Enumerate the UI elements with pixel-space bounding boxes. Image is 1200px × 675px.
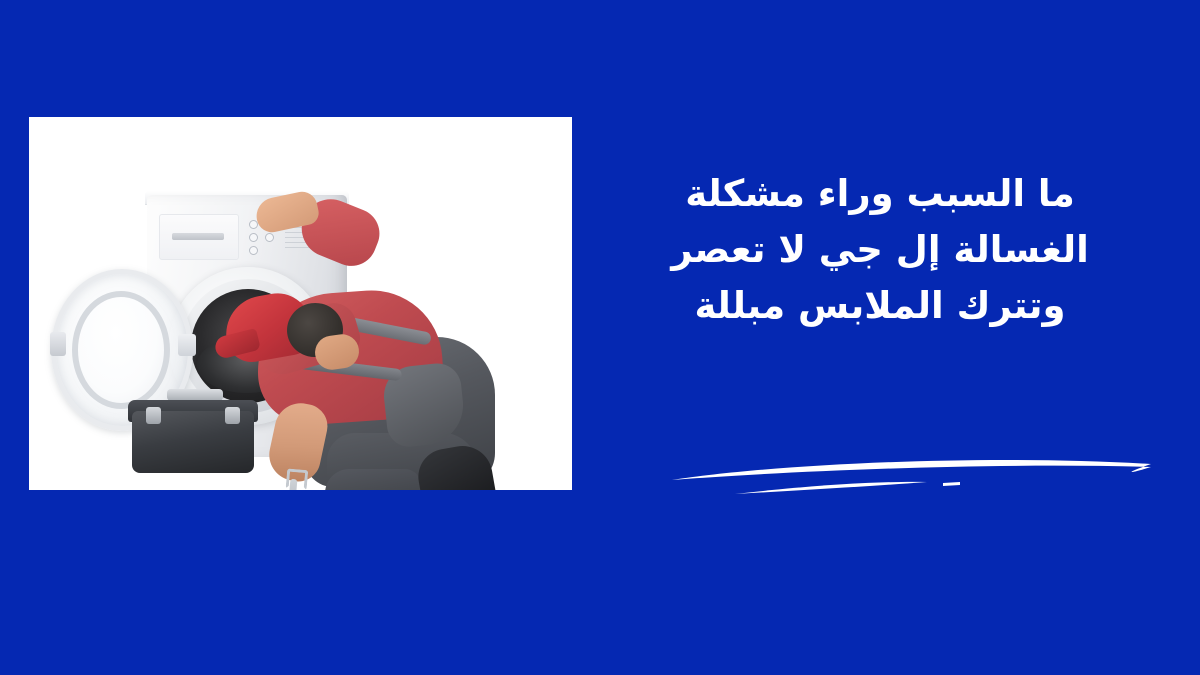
promo-banner: ما السبب وراء مشكلة الغسالة إل جي لا تعص… bbox=[0, 0, 1200, 675]
headline-line-2: الغسالة إل جي لا تعصر bbox=[620, 222, 1140, 278]
underline-stroke-secondary bbox=[735, 482, 927, 494]
headline: ما السبب وراء مشكلة الغسالة إل جي لا تعص… bbox=[620, 166, 1140, 335]
photo-panel bbox=[29, 117, 572, 490]
brush-stroke-underline bbox=[655, 448, 1165, 500]
wrench-tool bbox=[286, 479, 298, 490]
toolbox-latch bbox=[146, 407, 161, 424]
technician-knee bbox=[325, 469, 421, 490]
repair-technician bbox=[29, 117, 572, 490]
washing-machine-repair-photo bbox=[29, 117, 572, 490]
underline-stroke-dash bbox=[943, 482, 960, 486]
headline-line-1: ما السبب وراء مشكلة bbox=[620, 166, 1140, 222]
underline-stroke-main bbox=[672, 460, 1151, 480]
toolbox-latch bbox=[225, 407, 240, 424]
headline-line-3: وتترك الملابس مبللة bbox=[620, 278, 1140, 334]
